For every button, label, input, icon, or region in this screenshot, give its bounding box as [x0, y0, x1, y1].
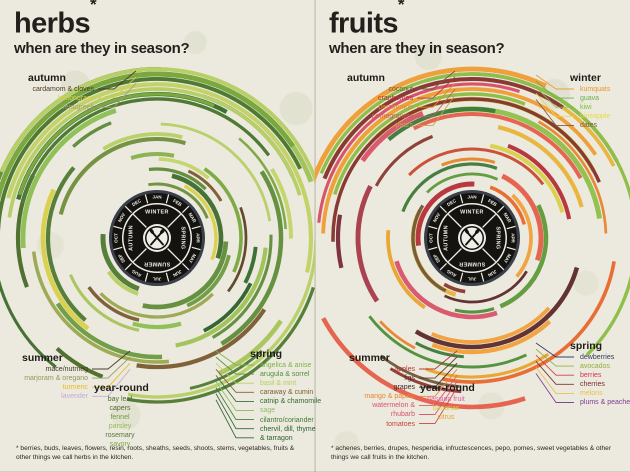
svg-text:WINTER: WINTER: [460, 209, 484, 215]
legend-item[interactable]: coconut: [315, 85, 413, 94]
legend-item[interactable]: cherries: [580, 380, 630, 389]
legend-item[interactable]: dewberries: [580, 353, 630, 362]
svg-text:OCT: OCT: [429, 233, 434, 243]
legend-item[interactable]: fennel: [60, 413, 180, 422]
legend-item[interactable]: mace/nutmeg: [0, 365, 88, 374]
season-label-spring: spring: [250, 348, 282, 360]
legend-item[interactable]: cranberries: [315, 94, 413, 103]
legend-item[interactable]: sage: [260, 406, 321, 415]
legend-group-autumn: coconutcranberriespersimmonpomegranatepe…: [315, 85, 413, 130]
svg-text:SPRING: SPRING: [180, 226, 186, 249]
svg-text:JAN: JAN: [152, 195, 162, 200]
svg-text:SUMMER: SUMMER: [459, 261, 485, 267]
legend-item[interactable]: kiwi: [580, 103, 610, 112]
season-label-year-round: year-round: [420, 382, 475, 394]
legend-item[interactable]: citrus: [386, 413, 506, 422]
season-label-summer: summer: [22, 352, 63, 364]
legend-item[interactable]: persimmon: [315, 103, 413, 112]
season-label-autumn: autumn: [28, 72, 66, 84]
legend-item[interactable]: pineapple: [580, 112, 610, 121]
infographic-page: herbs* when are they in season?JANFEBMAR…: [0, 0, 630, 472]
legend-item[interactable]: caraway & cumin: [260, 388, 321, 397]
legend-item[interactable]: berries: [580, 371, 630, 380]
season-label-autumn: autumn: [347, 72, 385, 84]
legend-group-spring: dewberriesavocadosberriescherriesmelonsp…: [580, 353, 630, 408]
panel-fruits: fruits* when are they in season?JANFEBMA…: [315, 0, 630, 472]
legend-item[interactable]: turmeric: [0, 383, 88, 392]
legend-item[interactable]: bananas: [386, 404, 506, 413]
legend-item[interactable]: guava: [580, 94, 610, 103]
legend-item[interactable]: parsley: [60, 422, 180, 431]
legend-group-spring: angelica & anisearugula & sorrelbasil & …: [260, 361, 321, 443]
season-label-spring: spring: [570, 340, 602, 352]
svg-text:OCT: OCT: [114, 233, 119, 243]
svg-text:APR: APR: [510, 233, 515, 243]
legend-item[interactable]: rosemary: [60, 431, 180, 440]
season-label-year-round: year-round: [94, 382, 149, 394]
svg-text:WINTER: WINTER: [145, 209, 169, 215]
svg-text:AUTUMN: AUTUMN: [128, 225, 134, 251]
legend-item[interactable]: capers: [60, 404, 180, 413]
svg-text:JAN: JAN: [467, 195, 477, 200]
legend-item[interactable]: figs: [315, 374, 415, 383]
legend-group-winter: kumquatsguavakiwipineappledates: [580, 85, 610, 130]
legend-item[interactable]: arugula & sorrel: [260, 370, 321, 379]
footnote: * berries, buds, leaves, flowers, resin,…: [16, 444, 306, 462]
legend-item[interactable]: dates: [580, 121, 610, 130]
legend-item[interactable]: chervil, dill, thyme: [260, 425, 321, 434]
legend-item[interactable]: avocados: [580, 362, 630, 371]
legend-group-year-round: bay leafcapersfennelparsleyrosemarysavor…: [60, 395, 180, 450]
legend-item[interactable]: cilantro/coriander: [260, 416, 321, 425]
legend-item[interactable]: cardamom & cloves: [0, 85, 94, 94]
legend-item[interactable]: angelica & anise: [260, 361, 321, 370]
legend-item[interactable]: basil & mint: [260, 379, 321, 388]
legend-item[interactable]: fenugreek: [0, 103, 94, 112]
legend-item[interactable]: pears: [315, 121, 413, 130]
legend-item[interactable]: grapes: [315, 383, 415, 392]
panel-herbs: herbs* when are they in season?JANFEBMAR…: [0, 0, 315, 472]
legend-group-year-round: passion fruitbananascitrus: [386, 395, 506, 422]
footnote: * achenes, berries, drupes, hesperidia, …: [331, 444, 621, 462]
legend-item[interactable]: bay leaf: [60, 395, 180, 404]
legend-item[interactable]: melons: [580, 389, 630, 398]
legend-group-autumn: cardamom & cloveslemongrassfenugreek: [0, 85, 94, 112]
legend-item[interactable]: kumquats: [580, 85, 610, 94]
svg-text:SUMMER: SUMMER: [144, 261, 170, 267]
svg-text:AUTUMN: AUTUMN: [443, 225, 449, 251]
legend-item[interactable]: plums & peaches: [580, 398, 630, 407]
season-label-winter: winter: [570, 72, 601, 84]
legend-item[interactable]: lemongrass: [0, 94, 94, 103]
svg-text:SPRING: SPRING: [495, 226, 501, 249]
legend-item[interactable]: passion fruit: [386, 395, 506, 404]
legend-item[interactable]: catnip & chamomile: [260, 397, 321, 406]
legend-item[interactable]: pomegranate: [315, 112, 413, 121]
svg-text:JUL: JUL: [467, 276, 476, 281]
legend-item[interactable]: marjoram & oregano: [0, 374, 88, 383]
season-label-summer: summer: [349, 352, 390, 364]
legend-item[interactable]: & tarragon: [260, 434, 321, 443]
legend-item[interactable]: apples: [315, 365, 415, 374]
svg-text:JUL: JUL: [152, 276, 161, 281]
svg-text:APR: APR: [195, 233, 200, 243]
